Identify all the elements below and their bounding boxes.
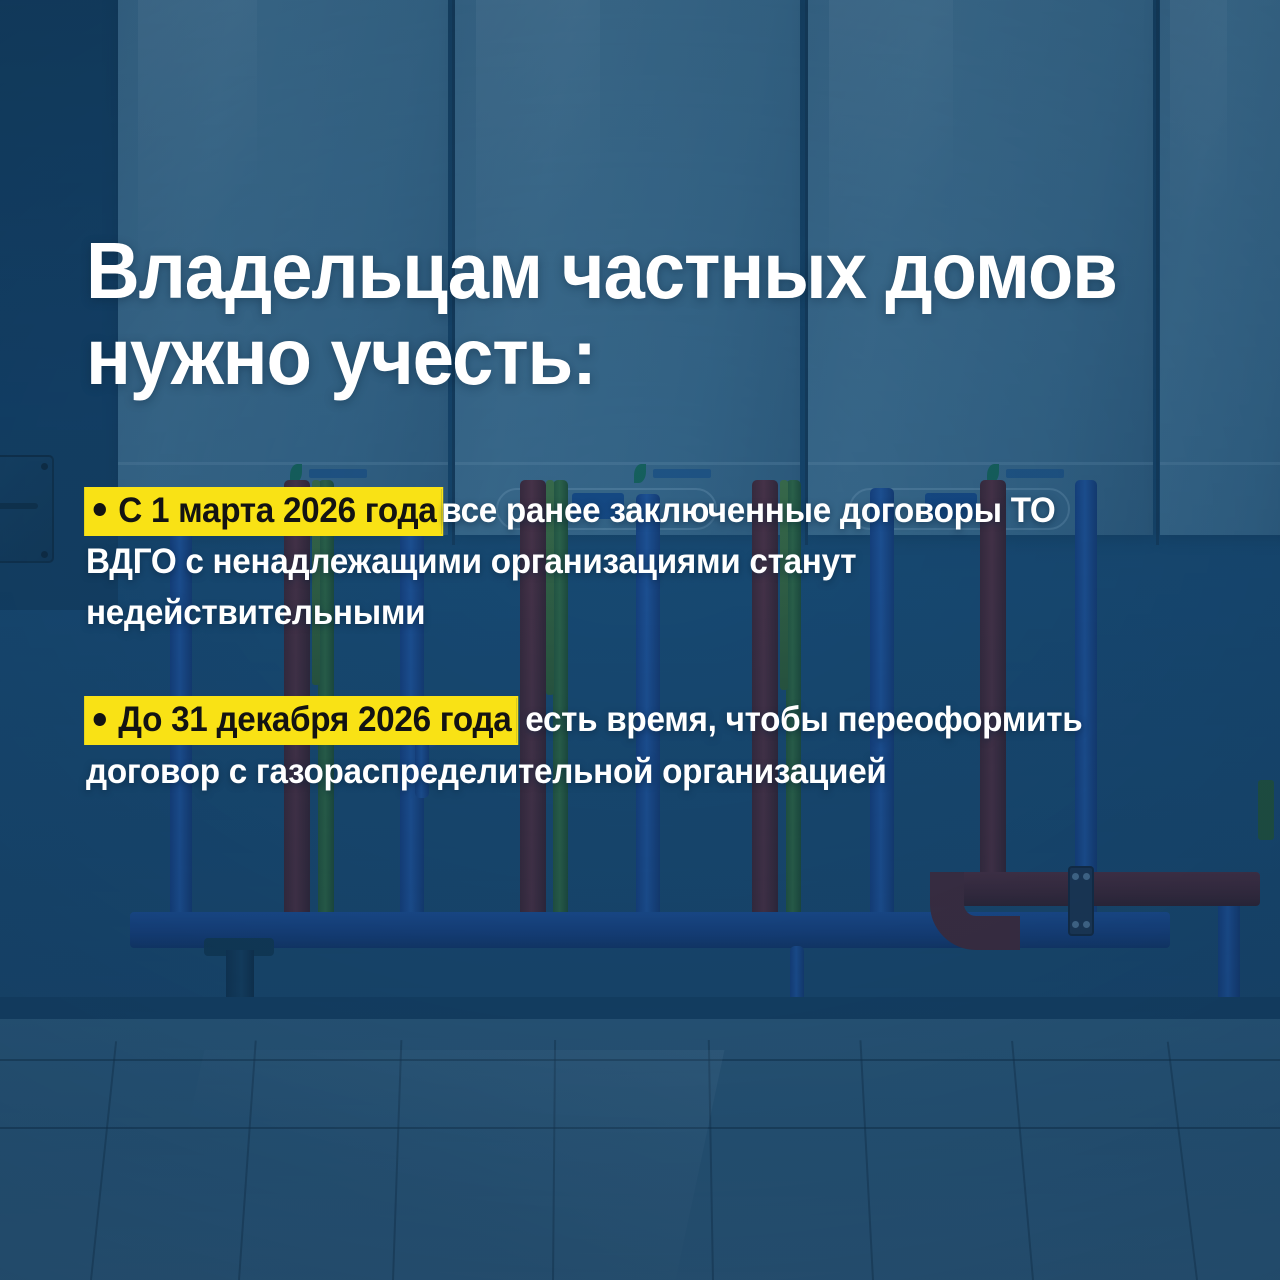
- highlighted-date: С 1 марта 2026 года: [86, 489, 441, 534]
- list-item: С 1 марта 2026 годавсе ранее заключенные…: [86, 485, 1216, 638]
- highlighted-date: До 31 декабря 2026 года: [86, 698, 516, 743]
- page-title: Владельцам частных домов нужно учесть:: [86, 228, 1137, 399]
- poster-content: Владельцам частных домов нужно учесть: С…: [0, 0, 1280, 1280]
- bullet-list: С 1 марта 2026 годавсе ранее заключенные…: [86, 485, 1216, 796]
- bullet-text: До 31 декабря 2026 года есть время, чтоб…: [86, 694, 1155, 796]
- bullet-text: С 1 марта 2026 годавсе ранее заключенные…: [86, 485, 1155, 638]
- infographic-poster: Владельцам частных домов нужно учесть: С…: [0, 0, 1280, 1280]
- highlight-label: До 31 декабря 2026 года: [118, 700, 511, 739]
- bullet-dot-icon: [94, 503, 106, 516]
- list-item: До 31 декабря 2026 года есть время, чтоб…: [86, 694, 1216, 796]
- highlight-label: С 1 марта 2026 года: [118, 491, 436, 530]
- bullet-dot-icon: [94, 713, 106, 726]
